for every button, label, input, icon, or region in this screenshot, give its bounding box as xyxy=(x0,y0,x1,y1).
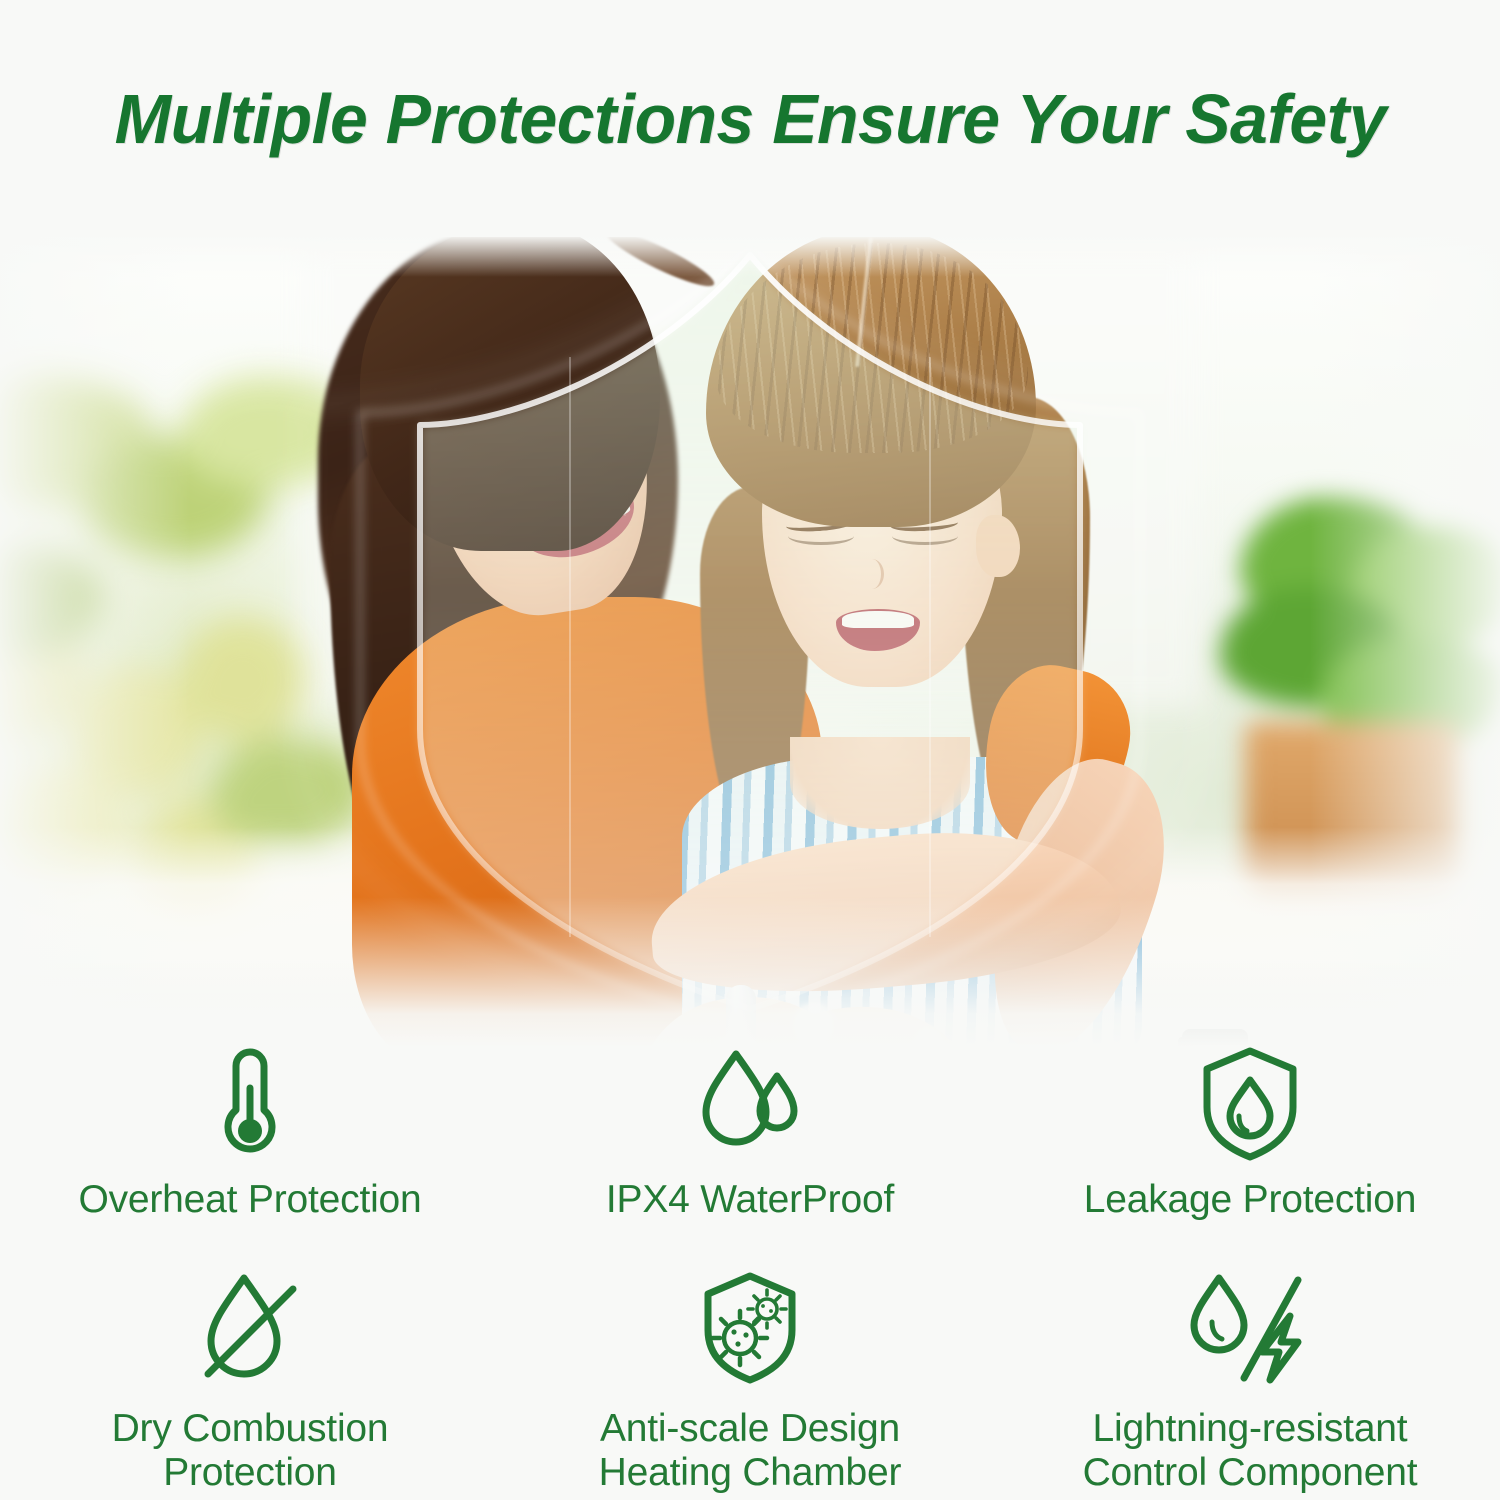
girl-eyelash-right xyxy=(892,527,958,545)
feature-label: Anti-scale Design Heating Chamber xyxy=(599,1407,902,1496)
feature-row-2: Dry Combustion Protection xyxy=(0,1265,1500,1496)
feature-label: Leakage Protection xyxy=(1084,1178,1416,1222)
feature-grid: Overheat Protection IPX4 WaterProof xyxy=(0,1040,1500,1500)
feature-label: IPX4 WaterProof xyxy=(606,1178,894,1222)
page-title: Multiple Protections Ensure Your Safety xyxy=(114,79,1385,159)
feature-overheat-protection: Overheat Protection xyxy=(0,1040,500,1222)
feature-leakage-protection: Leakage Protection xyxy=(1000,1040,1500,1222)
girl-teeth xyxy=(842,611,914,628)
feature-label: Overheat Protection xyxy=(78,1178,421,1222)
shield-germ-icon xyxy=(698,1265,802,1389)
water-drops-icon xyxy=(695,1040,805,1164)
girl-ear xyxy=(976,515,1020,577)
girl-nose xyxy=(860,559,884,589)
headline-banner: Multiple Protections Ensure Your Safety xyxy=(0,0,1500,237)
girl-eyelash-left xyxy=(788,527,854,545)
shield-droplet-icon xyxy=(1197,1040,1303,1164)
girl-neck xyxy=(790,737,970,829)
mother-hair-front xyxy=(360,237,660,551)
no-water-droplet-icon xyxy=(196,1265,304,1389)
feature-lightning-resistant-control: Lightning-resistant Control Component xyxy=(1000,1265,1500,1496)
feature-ipx4-waterproof: IPX4 WaterProof xyxy=(500,1040,1000,1222)
hero-photo xyxy=(0,237,1500,1047)
feature-label: Dry Combustion Protection xyxy=(112,1407,389,1496)
faucet xyxy=(726,985,756,1047)
thermometer-icon xyxy=(207,1040,293,1164)
feature-anti-scale-heating-chamber: Anti-scale Design Heating Chamber xyxy=(500,1265,1000,1496)
soap-suds xyxy=(660,989,980,1047)
droplet-lightning-icon xyxy=(1186,1265,1314,1389)
feature-label: Lightning-resistant Control Component xyxy=(1083,1407,1418,1496)
feature-dry-combustion-protection: Dry Combustion Protection xyxy=(0,1265,500,1496)
people-group xyxy=(0,237,1500,1047)
product-feature-page: Multiple Protections Ensure Your Safety xyxy=(0,0,1500,1500)
feature-row-1: Overheat Protection IPX4 WaterProof xyxy=(0,1040,1500,1222)
